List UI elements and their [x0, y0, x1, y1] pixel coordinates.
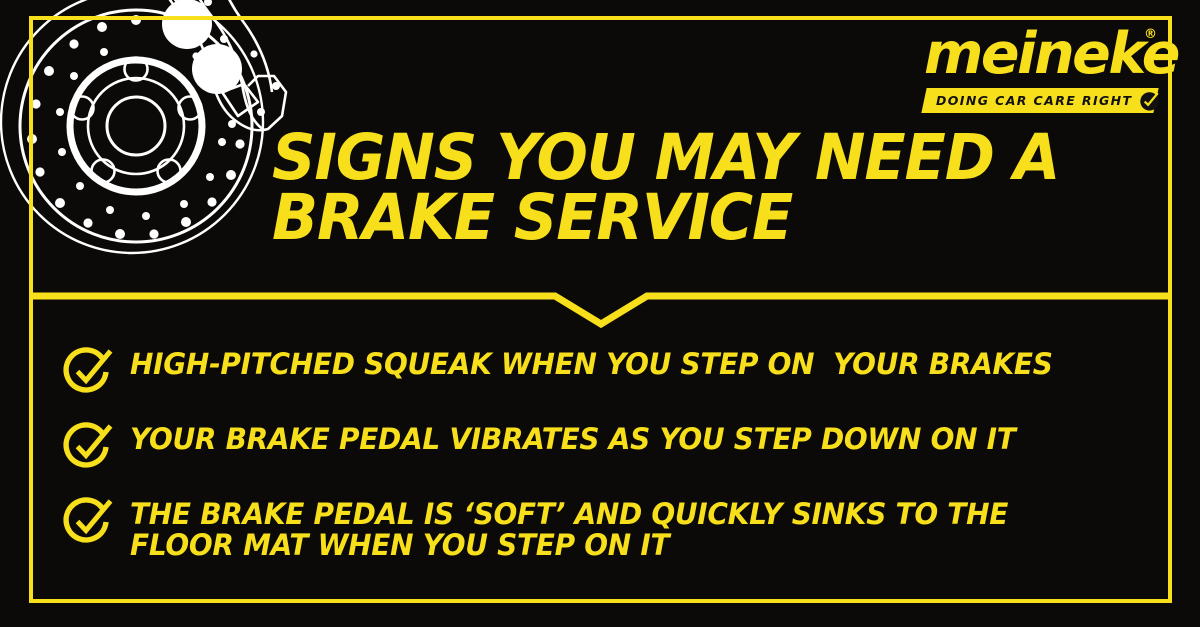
list-item-label: HIGH-PITCHED SQUEAK WHEN YOU STEP ON YOU…: [130, 344, 1053, 380]
logo-tagline: DOING CAR CARE RIGHT: [936, 93, 1132, 108]
check-circle-icon: [62, 345, 116, 397]
section-divider-with-notch: [29, 286, 1172, 330]
logo-wordmark-text: meineke: [924, 21, 1178, 87]
brake-service-infographic: meineke® DOING CAR CARE RIGHT SIGNS YOU …: [0, 0, 1200, 627]
check-badge-icon: [1139, 90, 1160, 111]
list-item: HIGH-PITCHED SQUEAK WHEN YOU STEP ON YOU…: [62, 344, 1162, 397]
check-circle-icon: [62, 495, 116, 547]
symptom-list: HIGH-PITCHED SQUEAK WHEN YOU STEP ON YOU…: [62, 344, 1162, 582]
list-item: YOUR BRAKE PEDAL VIBRATES AS YOU STEP DO…: [62, 419, 1162, 472]
brake-rotor-caliper-illustration: [0, 0, 306, 284]
page-title: SIGNS YOU MAY NEED A BRAKE SERVICE: [272, 128, 1102, 249]
registered-trademark-icon: ®: [1144, 28, 1157, 41]
logo-tagline-bar: DOING CAR CARE RIGHT: [921, 88, 1158, 113]
check-circle-icon: [62, 420, 116, 472]
list-item-label: THE BRAKE PEDAL IS ‘SOFT’ AND QUICKLY SI…: [130, 494, 1008, 560]
meineke-logo: meineke® DOING CAR CARE RIGHT: [924, 26, 1156, 113]
page-title-line-1: SIGNS YOU MAY NEED A: [272, 128, 1069, 188]
list-item-label: YOUR BRAKE PEDAL VIBRATES AS YOU STEP DO…: [130, 419, 1016, 455]
logo-wordmark: meineke®: [924, 26, 1156, 83]
page-title-line-2: BRAKE SERVICE: [272, 188, 1069, 248]
list-item: THE BRAKE PEDAL IS ‘SOFT’ AND QUICKLY SI…: [62, 494, 1162, 560]
